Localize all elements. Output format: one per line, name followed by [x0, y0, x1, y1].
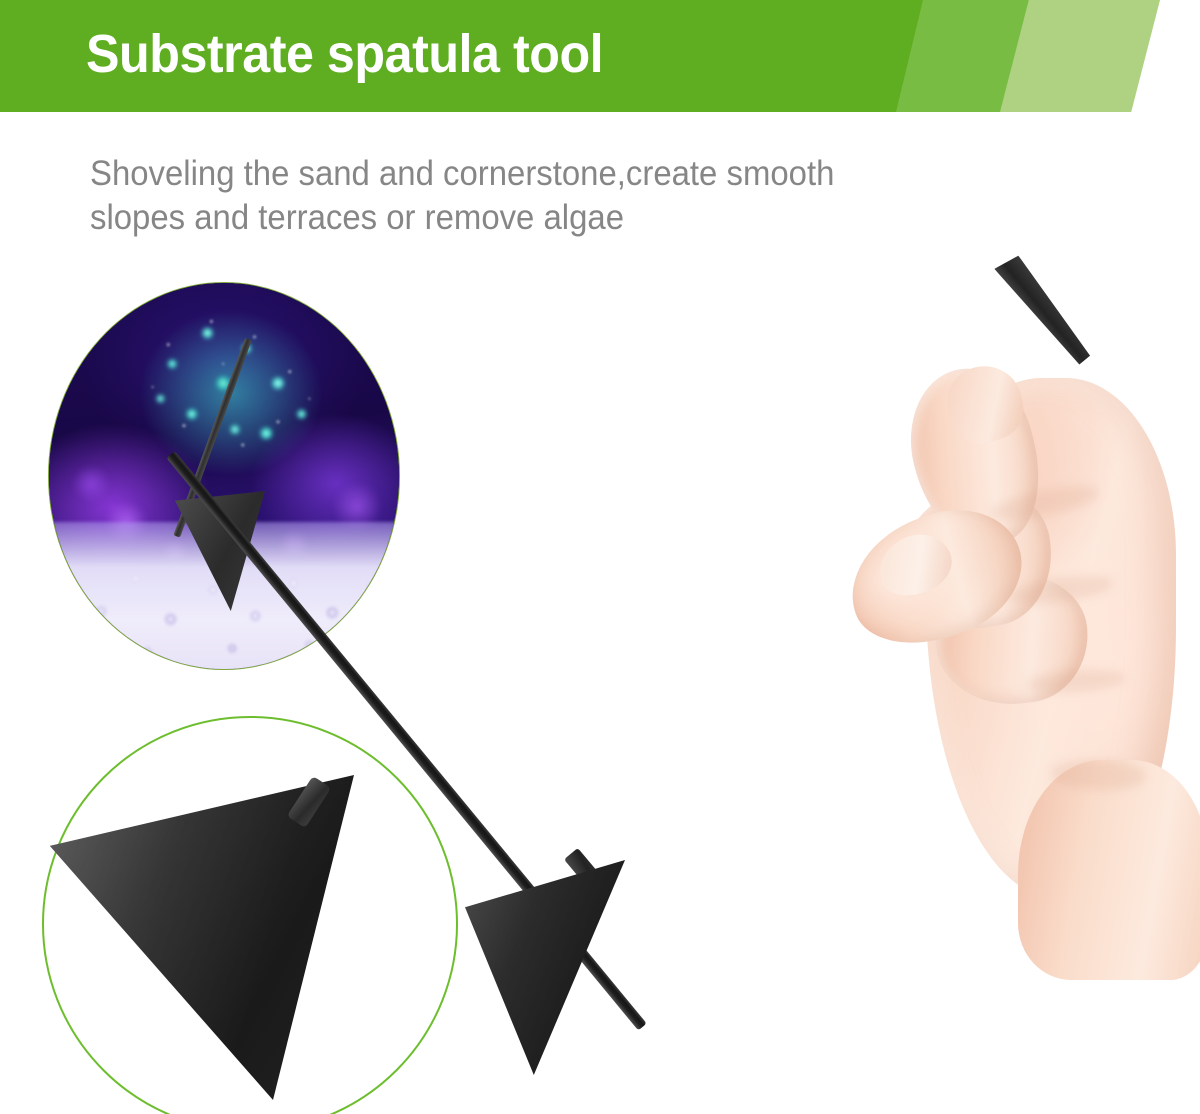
blade-triangle-sheen [48, 770, 408, 1100]
subtitle-line-1: Shoveling the sand and cornerstone,creat… [90, 152, 1086, 196]
aquarium-inset-photo [48, 282, 400, 670]
aquarium-coral-tips [133, 306, 329, 499]
hand-holding-tool [840, 340, 1200, 960]
hand-wrist [1018, 760, 1200, 980]
product-marketing-page: Substrate spatula tool Shoveling the san… [0, 0, 1200, 1114]
blade-closeup-illustration [48, 770, 408, 1110]
header-banner: Substrate spatula tool [0, 0, 1200, 112]
product-hero-image [430, 210, 1200, 1110]
page-title: Substrate spatula tool [86, 16, 603, 92]
